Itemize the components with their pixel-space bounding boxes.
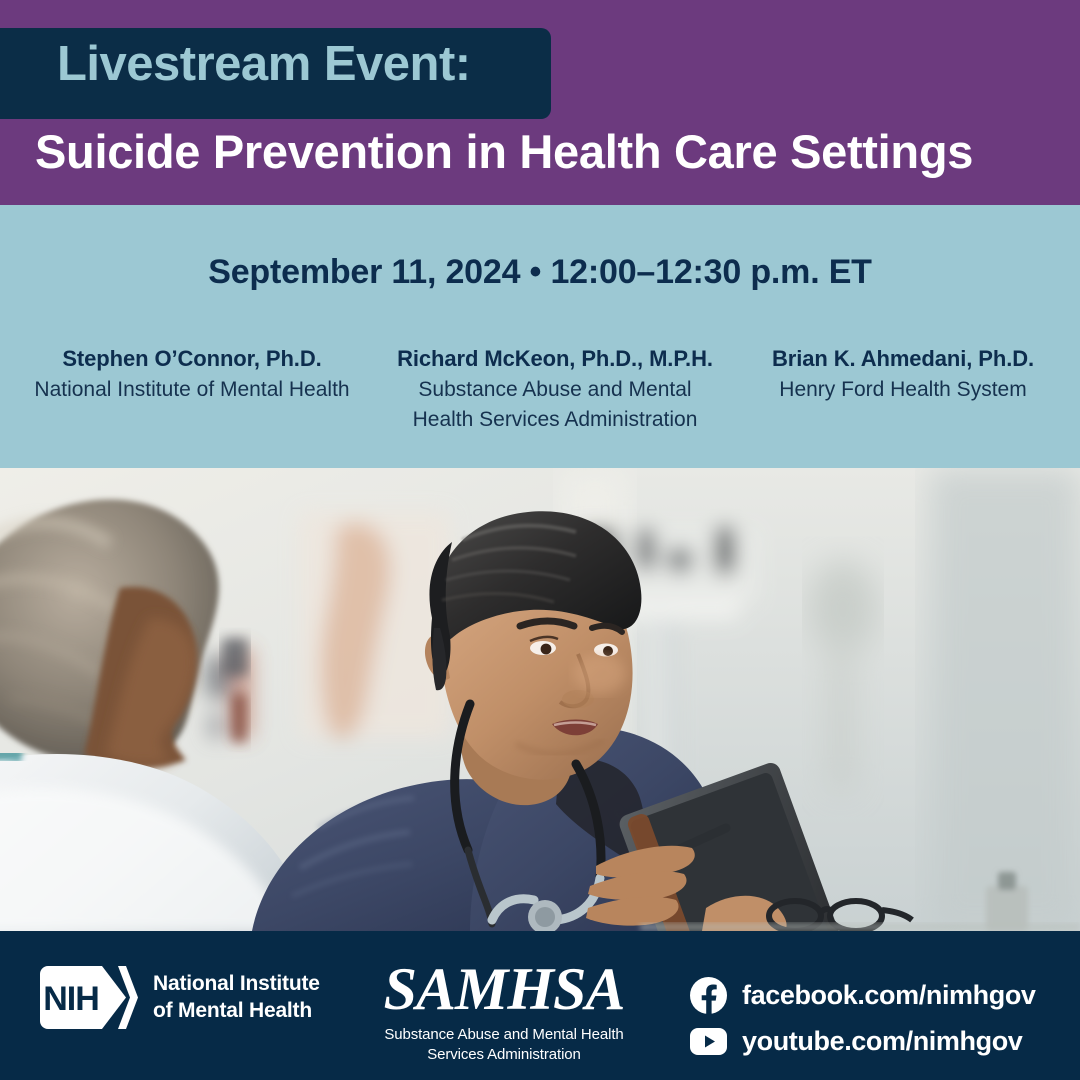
speaker-name: Brian K. Ahmedani, Ph.D. xyxy=(744,345,1062,373)
social-links: facebook.com/nimhgov youtube.com/nimhgov xyxy=(690,976,1036,1068)
footer-bar: NIH National Institute of Mental Health … xyxy=(0,931,1080,1080)
samhsa-subtitle: Substance Abuse and Mental Health Servic… xyxy=(374,1025,634,1066)
info-band: September 11, 2024 • 12:00–12:30 p.m. ET… xyxy=(0,205,1080,468)
event-photo xyxy=(0,468,1080,931)
speaker-affiliation: Henry Ford Health System xyxy=(744,376,1062,403)
speaker-item: Brian K. Ahmedani, Ph.D. Henry Ford Heal… xyxy=(744,345,1062,433)
speaker-item: Richard McKeon, Ph.D., M.P.H. Substance … xyxy=(369,345,741,433)
nih-logo: NIH National Institute of Mental Health xyxy=(40,966,320,1029)
facebook-icon xyxy=(690,977,727,1014)
samhsa-wordmark: SAMHSA xyxy=(374,959,634,1019)
svg-text:NIH: NIH xyxy=(43,980,99,1018)
page-title: Suicide Prevention in Health Care Settin… xyxy=(35,128,973,175)
social-link-youtube[interactable]: youtube.com/nimhgov xyxy=(690,1022,1036,1060)
speaker-item: Stephen O’Connor, Ph.D. National Institu… xyxy=(18,345,366,433)
youtube-url: youtube.com/nimhgov xyxy=(742,1028,1022,1055)
speaker-name: Richard McKeon, Ph.D., M.P.H. xyxy=(369,345,741,373)
youtube-icon xyxy=(690,1023,727,1060)
speaker-name: Stephen O’Connor, Ph.D. xyxy=(18,345,366,373)
facebook-url: facebook.com/nimhgov xyxy=(742,982,1036,1009)
nih-mark-icon: NIH xyxy=(40,966,138,1029)
speaker-affiliation-line2: Health Services Administration xyxy=(369,406,741,433)
nih-name-line2: of Mental Health xyxy=(153,998,320,1024)
speaker-list: Stephen O’Connor, Ph.D. National Institu… xyxy=(0,345,1080,433)
event-poster: Livestream Event: Suicide Prevention in … xyxy=(0,0,1080,1080)
nih-name-line1: National Institute xyxy=(153,971,320,997)
header-band: Livestream Event: Suicide Prevention in … xyxy=(0,0,1080,205)
samhsa-subtitle-line1: Substance Abuse and Mental Health xyxy=(374,1025,634,1045)
event-datetime: September 11, 2024 • 12:00–12:30 p.m. ET xyxy=(0,255,1080,289)
samhsa-subtitle-line2: Services Administration xyxy=(374,1045,634,1065)
speaker-affiliation: Substance Abuse and Mental xyxy=(369,376,741,403)
samhsa-logo: SAMHSA Substance Abuse and Mental Health… xyxy=(374,959,634,1066)
nih-wordmark: National Institute of Mental Health xyxy=(153,971,320,1024)
speaker-affiliation: National Institute of Mental Health xyxy=(18,376,366,403)
social-link-facebook[interactable]: facebook.com/nimhgov xyxy=(690,976,1036,1014)
eyebrow-label: Livestream Event: xyxy=(57,40,471,89)
